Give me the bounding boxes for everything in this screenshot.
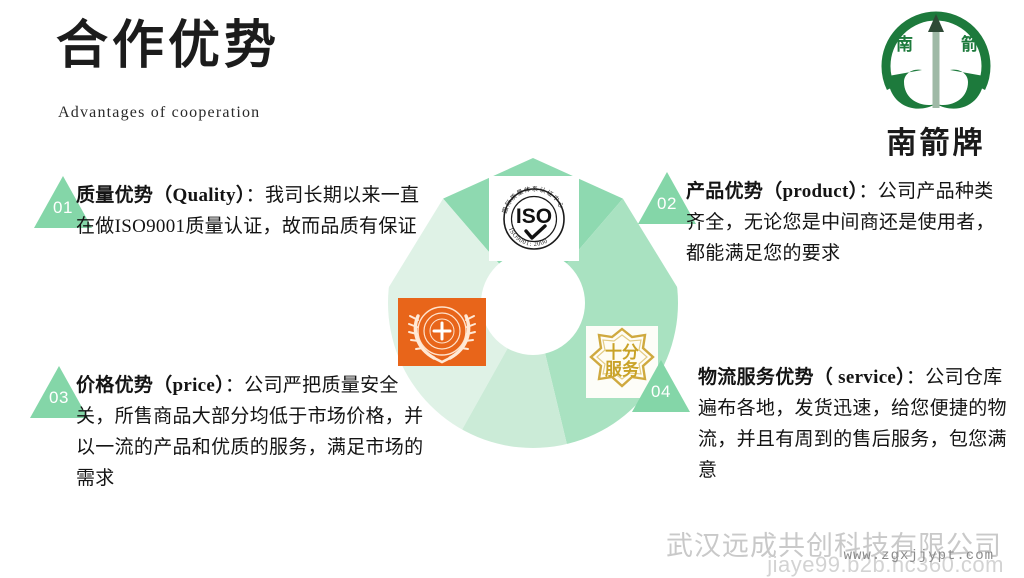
emblem-char-right: 箭 (961, 30, 978, 55)
iso-certification-badge: 国际质量体系认证中心 ISO9001: 2000 ISO (489, 176, 579, 261)
service-badge-line1: 十分 (605, 342, 639, 362)
page-title: 合作优势 (56, 16, 280, 78)
watermark-website: www.zgxjjypt.com (844, 548, 994, 564)
item-number-04: 04 (632, 382, 690, 402)
iso-main-text: ISO (516, 205, 552, 228)
item-separator-03: ： (225, 375, 244, 396)
donut-center-hole (481, 251, 585, 355)
item-text-02: 产品优势（product）：公司产品种类齐全，无论您是中间商还是使用者，都能满足… (686, 176, 1006, 269)
item-heading-02: 产品优势（product） (686, 181, 858, 202)
watermark-company: 武汉远成共创科技有限公司 (666, 524, 1002, 563)
watermark-b2b-url: jiaye99.b2b.hc360.com (767, 552, 1004, 578)
brand-emblem-icon: 南 箭 (874, 4, 998, 120)
brand-name: 南箭牌 (866, 118, 1006, 162)
item-text-04: 物流服务优势（ service）：公司仓库遍布各地，发货迅速，给您便捷的物流，并… (698, 362, 1016, 486)
item-text-01: 质量优势（Quality）：我司长期以来一直在做ISO9001质量认证，故而品质… (76, 180, 426, 242)
item-heading-04: 物流服务优势（ service） (698, 367, 906, 388)
item-number-badge-04: 04 (632, 360, 690, 412)
item-separator-02: ： (858, 181, 877, 202)
item-text-03: 价格优势（price）：公司严把质量安全关，所售商品大部分均低于市场价格，并以一… (76, 370, 428, 494)
emblem-char-left: 南 (896, 30, 913, 55)
item-separator-01: ： (246, 185, 265, 206)
page-subtitle: Advantages of cooperation (58, 104, 260, 122)
item-separator-04: ： (906, 367, 925, 388)
brand-logo: 南 箭 南箭牌 (866, 4, 1006, 164)
quality-award-badge (398, 298, 486, 366)
item-heading-01: 质量优势（Quality） (76, 185, 246, 206)
item-heading-03: 价格优势（price） (76, 375, 225, 396)
